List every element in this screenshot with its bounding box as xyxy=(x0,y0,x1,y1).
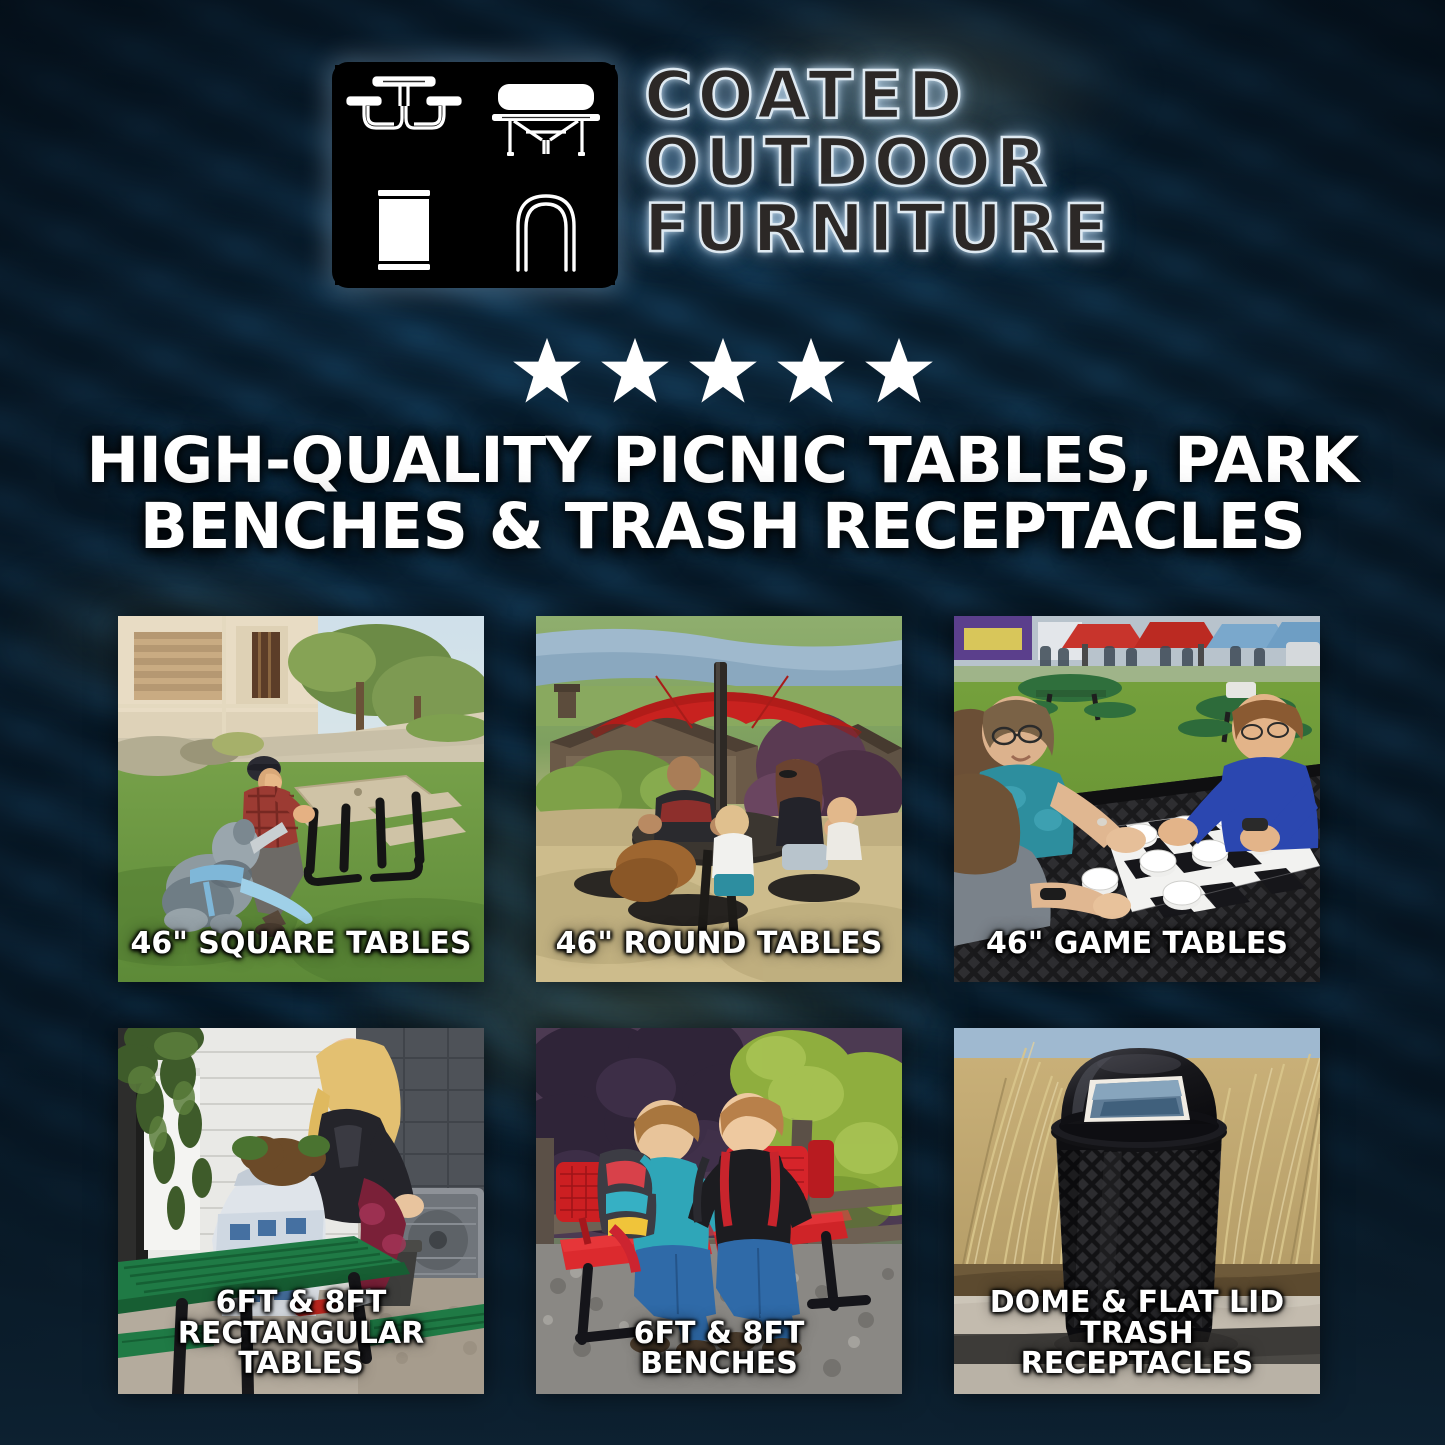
brand-name-line-3: FURNITURE xyxy=(644,197,1113,262)
star-rating xyxy=(0,336,1445,406)
caption-line-2: TRASH RECEPTACLES xyxy=(960,1319,1314,1380)
caption-line-2: BENCHES xyxy=(542,1349,896,1380)
brand-header: COATED OUTDOOR FURNITURE xyxy=(0,62,1445,288)
caption-line-1: 6FT & 8FT xyxy=(542,1319,896,1350)
brand-logo-mark xyxy=(332,62,618,288)
caption-line-1: 46" GAME TABLES xyxy=(960,929,1314,960)
trash-receptacle-icon xyxy=(335,177,474,286)
product-caption-game-tables: 46" GAME TABLES xyxy=(960,929,1314,960)
caption-line-1: 46" ROUND TABLES xyxy=(542,929,896,960)
star-icon xyxy=(687,336,759,406)
star-icon xyxy=(775,336,847,406)
product-grid: 46" SQUARE TABLES xyxy=(118,616,1330,1394)
bench-table-icon xyxy=(477,65,616,174)
page-headline: HIGH-QUALITY PICNIC TABLES, PARK BENCHES… xyxy=(60,428,1385,559)
headline-line-2: BENCHES & TRASH RECEPTACLES xyxy=(60,494,1385,560)
product-caption-benches: 6FT & 8FT BENCHES xyxy=(542,1319,896,1380)
brand-name-line-2: OUTDOOR xyxy=(644,131,1113,196)
product-caption-trash-receptacles: DOME & FLAT LID TRASH RECEPTACLES xyxy=(960,1288,1314,1380)
product-card-benches[interactable]: 6FT & 8FT BENCHES xyxy=(536,1028,902,1394)
brand-name-line-1: COATED xyxy=(644,64,1113,129)
product-card-rectangular-tables[interactable]: 6FT & 8FT RECTANGULAR TABLES xyxy=(118,1028,484,1394)
product-card-trash-receptacles[interactable]: DOME & FLAT LID TRASH RECEPTACLES xyxy=(954,1028,1320,1394)
product-caption-square-tables: 46" SQUARE TABLES xyxy=(124,929,478,960)
promotional-poster: COATED OUTDOOR FURNITURE HIGH-QUALITY PI… xyxy=(0,0,1445,1445)
star-icon xyxy=(511,336,583,406)
product-caption-round-tables: 46" ROUND TABLES xyxy=(542,929,896,960)
brand-wordmark: COATED OUTDOOR FURNITURE xyxy=(644,62,1113,262)
picnic-table-icon xyxy=(335,65,474,174)
caption-line-1: 46" SQUARE TABLES xyxy=(124,929,478,960)
bike-rack-icon xyxy=(477,177,616,286)
caption-line-2: RECTANGULAR TABLES xyxy=(124,1319,478,1380)
star-icon xyxy=(863,336,935,406)
caption-line-1: DOME & FLAT LID xyxy=(960,1288,1314,1319)
product-card-game-tables[interactable]: 46" GAME TABLES xyxy=(954,616,1320,982)
product-card-square-tables[interactable]: 46" SQUARE TABLES xyxy=(118,616,484,982)
product-card-round-tables[interactable]: 46" ROUND TABLES xyxy=(536,616,902,982)
product-caption-rectangular-tables: 6FT & 8FT RECTANGULAR TABLES xyxy=(124,1288,478,1380)
star-icon xyxy=(599,336,671,406)
headline-line-1: HIGH-QUALITY PICNIC TABLES, PARK xyxy=(60,428,1385,494)
caption-line-1: 6FT & 8FT xyxy=(124,1288,478,1319)
